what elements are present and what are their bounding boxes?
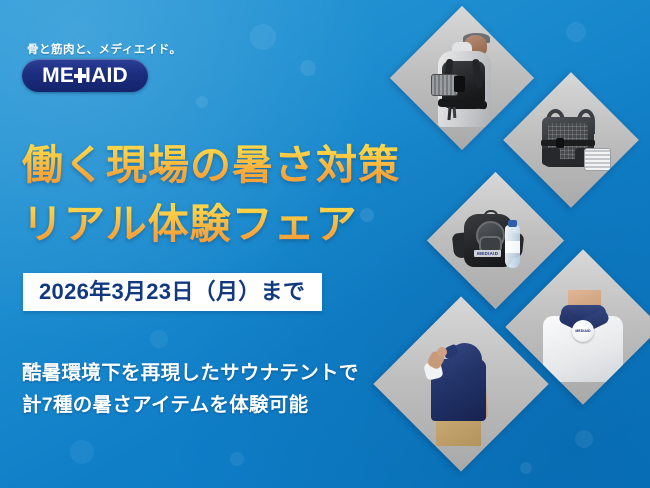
battery-box xyxy=(454,76,465,92)
bokeh-circle xyxy=(360,208,374,222)
headline-line-1: 働く現場の暑さ対策 xyxy=(22,131,400,191)
description-line-2: 計7種の暑さアイテムを体験可能 xyxy=(22,388,308,417)
bokeh-circle xyxy=(230,452,244,466)
product-image-cooling-vest-worker xyxy=(411,27,513,129)
bokeh-circle xyxy=(250,24,276,50)
bokeh-circle xyxy=(150,330,168,348)
vest-buckle xyxy=(556,138,565,148)
vest-cord xyxy=(452,106,455,117)
logo-text-left: ME xyxy=(42,65,74,86)
product-photo-frame xyxy=(523,92,619,188)
bokeh-circle xyxy=(70,440,94,464)
description-line-1: 酷暑環境下を再現したサウナテントで xyxy=(22,356,359,385)
date-badge-text: 2026年3月23日（月）まで xyxy=(39,280,305,303)
bokeh-circle xyxy=(566,22,586,42)
backpack-brand-text: MEDIAID xyxy=(477,251,498,256)
date-badge: 2026年3月23日（月）まで xyxy=(23,273,322,311)
mediaid-logo: ME IAID xyxy=(22,59,148,92)
bokeh-circle xyxy=(196,96,208,108)
promo-banner: MEDIAID xyxy=(0,0,650,488)
logo-wordmark: ME IAID xyxy=(42,65,128,86)
product-photo-frame: MEDIAID xyxy=(447,192,544,289)
medical-cross-icon xyxy=(73,65,86,86)
bokeh-circle xyxy=(300,60,316,76)
headline-line-2: リアル体験フェア xyxy=(22,190,358,250)
bokeh-circle xyxy=(520,462,532,474)
product-photo-frame xyxy=(411,27,513,129)
product-image-neck-cooler-fan: MEDIAID xyxy=(528,272,638,382)
model-hand xyxy=(437,347,447,357)
product-tile-mesh-vest-ice-pack xyxy=(503,72,639,208)
product-image-hydration-backpack: MEDIAID xyxy=(447,192,544,289)
product-image-hooded-cooling-cape xyxy=(399,322,523,446)
vest-belt xyxy=(541,140,595,146)
bottle-label xyxy=(505,241,520,254)
product-image-mesh-vest-ice-pack xyxy=(523,92,619,188)
fan-brand-text: MEDIAID xyxy=(572,320,594,342)
product-tile-cooling-vest-worker xyxy=(390,6,534,150)
neck-cooler-fan-unit: MEDIAID xyxy=(572,320,594,342)
product-photo-frame: MEDIAID xyxy=(528,272,638,382)
brand-tagline: 骨と筋肉と、メディエイド。 xyxy=(27,41,182,57)
vest-pocket-left xyxy=(542,148,560,165)
ice-pack-stack xyxy=(584,148,611,171)
backpack-brand-mark: MEDIAID xyxy=(474,250,501,257)
logo-text-right: IAID xyxy=(85,65,128,86)
bokeh-circle xyxy=(575,430,593,448)
bottle-cap xyxy=(508,220,518,227)
product-photo-frame xyxy=(399,322,523,446)
